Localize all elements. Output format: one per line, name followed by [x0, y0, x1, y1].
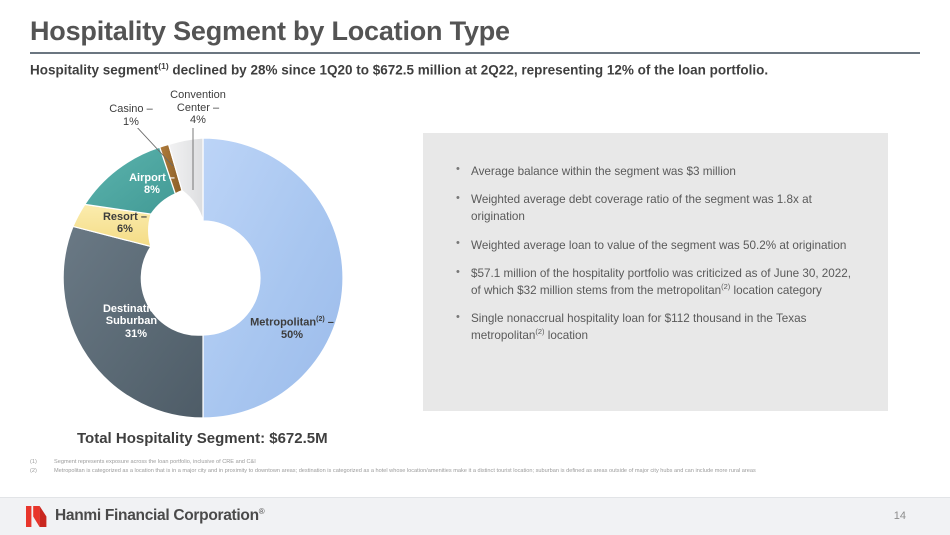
page-title: Hospitality Segment by Location Type — [30, 16, 510, 47]
subtitle-footnote-ref: (1) — [158, 61, 168, 71]
hanmi-logo-icon — [26, 506, 48, 527]
footnote-1-marker: (1) — [30, 458, 54, 466]
company-logo: Hanmi Financial Corporation® — [26, 506, 264, 527]
details-bullet-list: Average balance within the segment was $… — [455, 163, 855, 356]
subtitle: Hospitality segment(1) declined by 28% s… — [30, 61, 768, 78]
donut-chart: Metropolitan(2) – 50% Destination / Subu… — [55, 128, 355, 428]
page-number: 14 — [894, 510, 906, 522]
footnotes: (1) Segment represents exposure across t… — [30, 458, 930, 477]
title-divider — [30, 52, 920, 54]
footnote-1: (1) Segment represents exposure across t… — [30, 458, 930, 466]
footer-bar: Hanmi Financial Corporation® 14 — [0, 497, 950, 535]
footnote-2: (2) Metropolitan is categorized as a loc… — [30, 467, 930, 475]
footnote-2-text: Metropolitan is categorized as a locatio… — [54, 467, 930, 475]
list-item: Average balance within the segment was $… — [455, 163, 855, 179]
footnote-1-text: Segment represents exposure across the l… — [54, 458, 930, 466]
subtitle-text-pre: Hospitality segment — [30, 63, 158, 78]
donut-chart-svg — [55, 128, 355, 428]
total-hospitality-segment-label: Total Hospitality Segment: $672.5M — [77, 430, 328, 447]
footnote-2-marker: (2) — [30, 467, 54, 475]
list-item: Weighted average loan to value of the se… — [455, 237, 855, 253]
list-item: Weighted average debt coverage ratio of … — [455, 192, 855, 224]
list-item: Single nonaccrual hospitality loan for $… — [455, 311, 855, 343]
details-panel: Average balance within the segment was $… — [423, 133, 888, 411]
callout-label-casino: Casino – 1% — [100, 103, 162, 128]
callout-label-convention-center: Convention Center – 4% — [160, 89, 236, 127]
company-name: Hanmi Financial Corporation® — [55, 507, 264, 525]
subtitle-text-post: declined by 28% since 1Q20 to $672.5 mil… — [169, 63, 768, 78]
list-item: $57.1 million of the hospitality portfol… — [455, 266, 855, 298]
